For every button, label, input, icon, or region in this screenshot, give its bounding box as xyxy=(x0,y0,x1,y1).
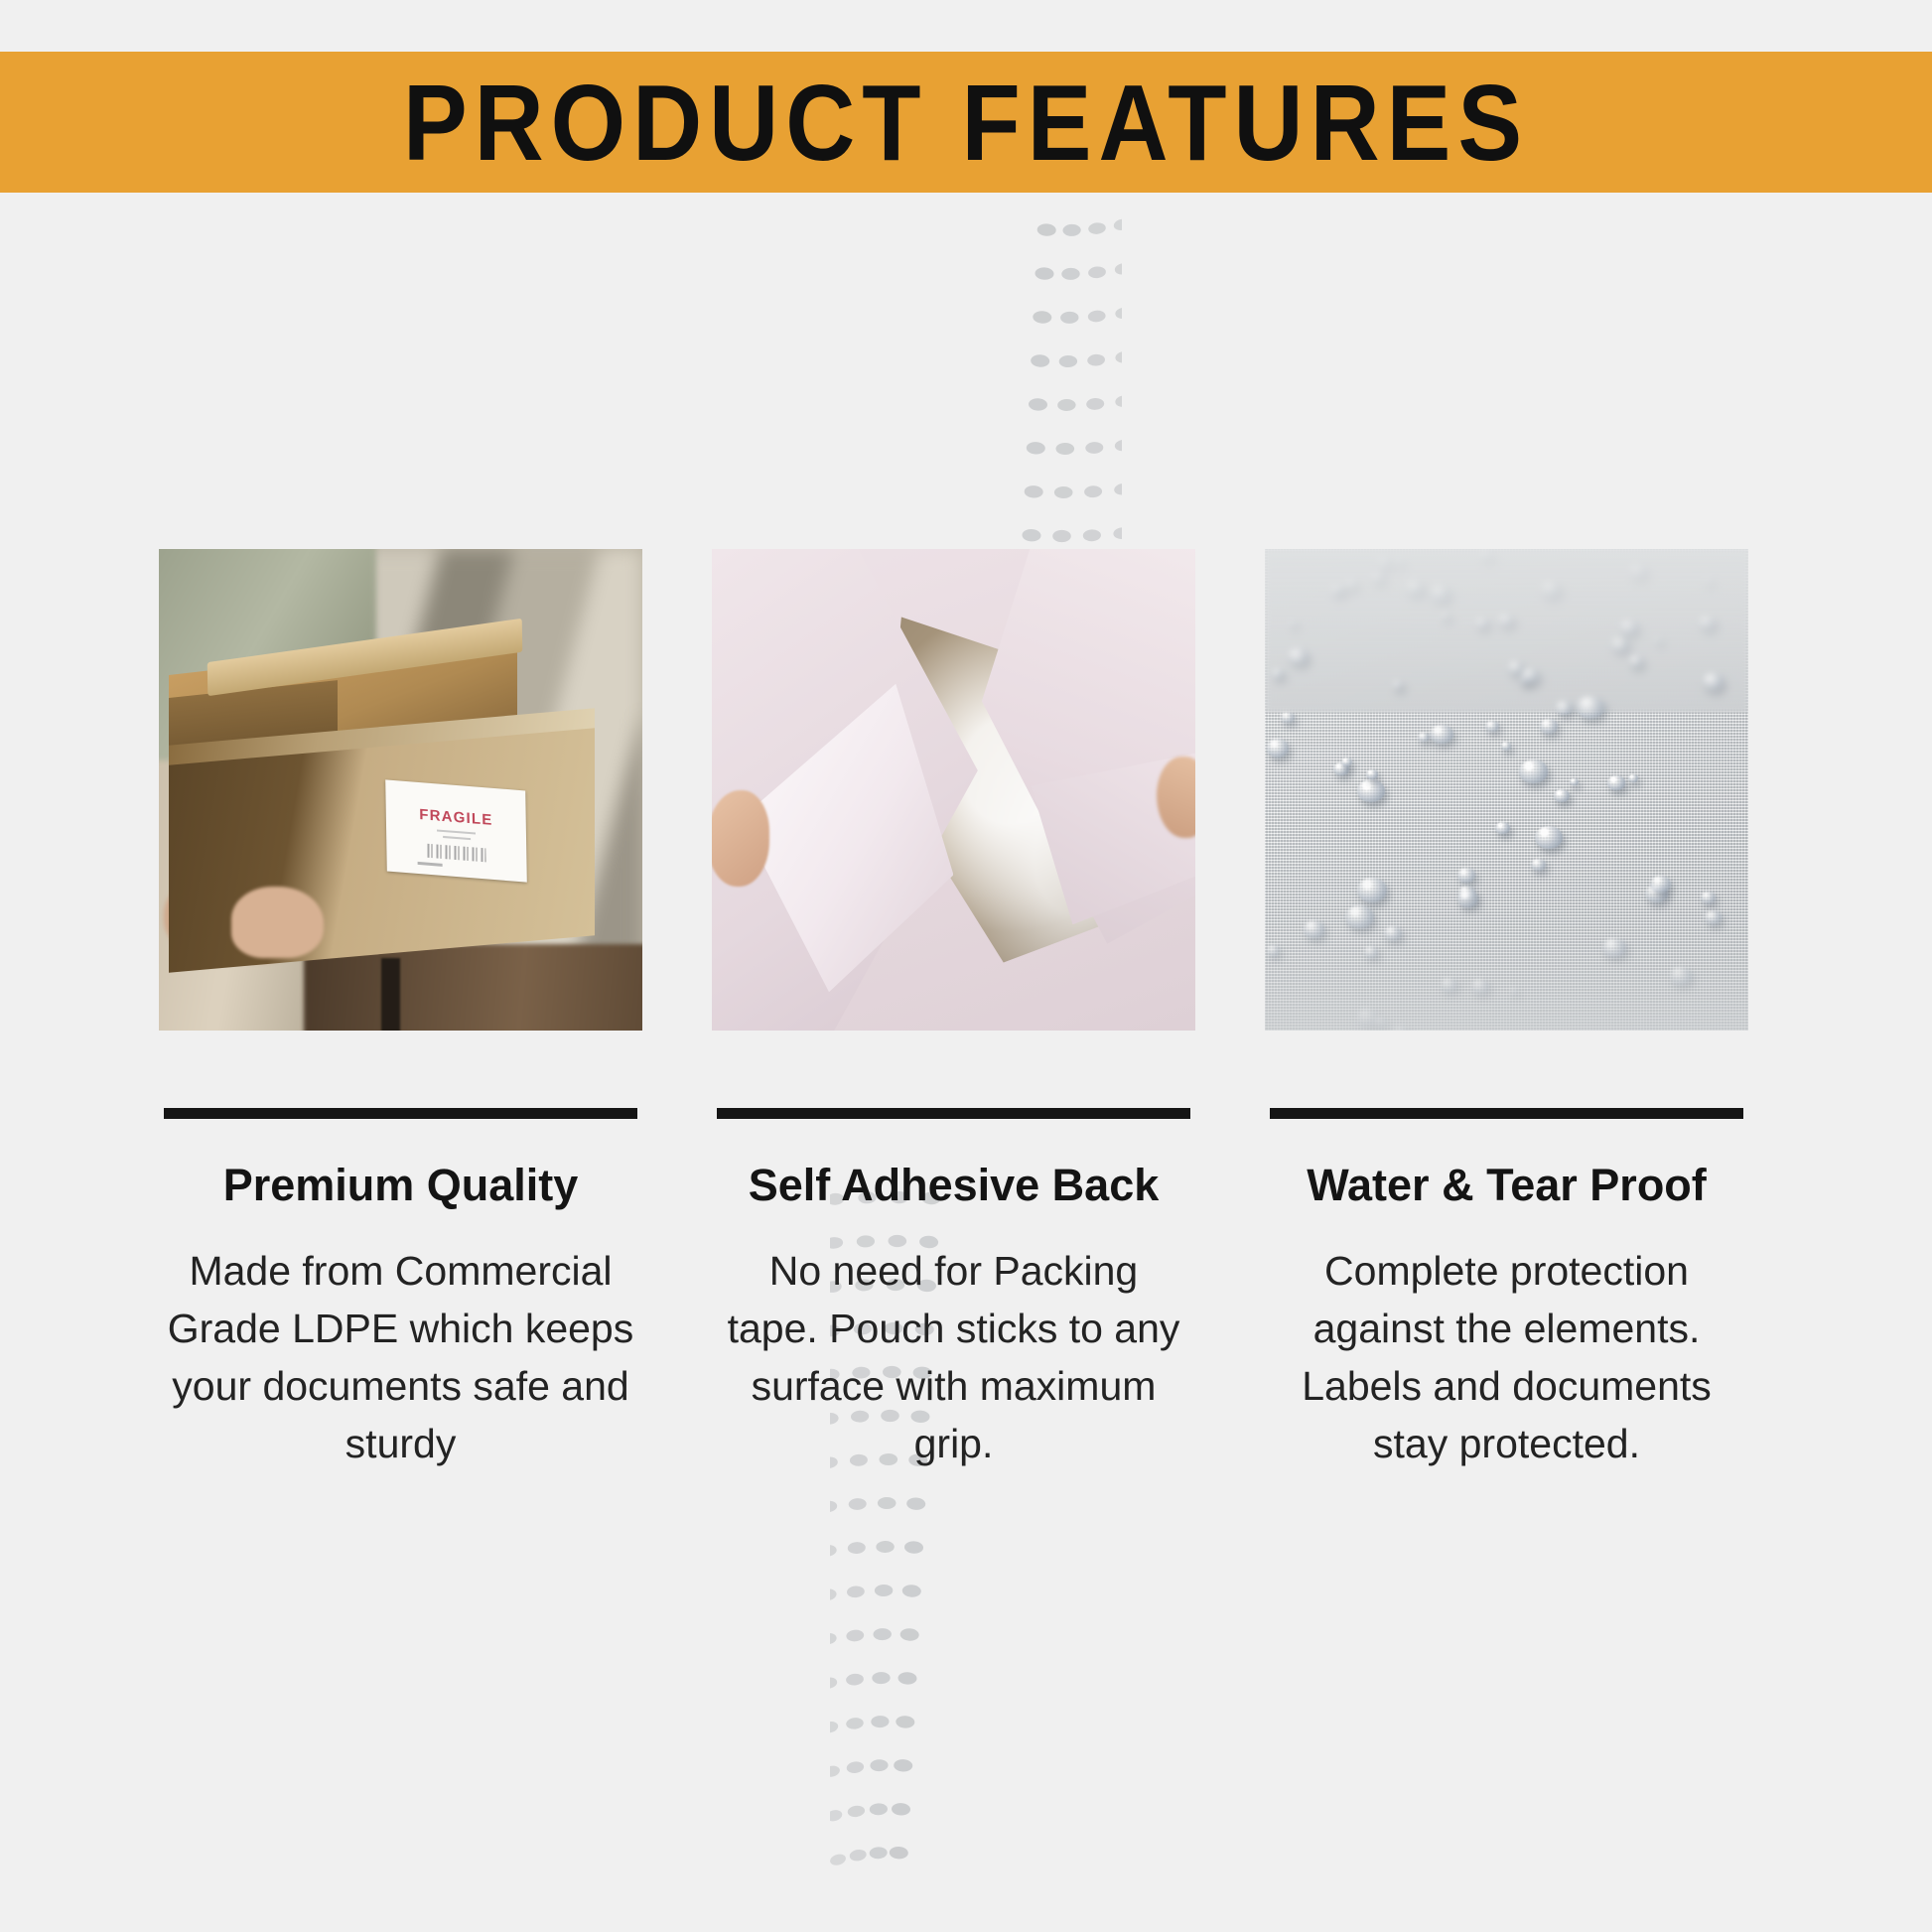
water-droplet xyxy=(1628,774,1638,782)
feature-title: Self Adhesive Back xyxy=(749,1161,1160,1210)
water-droplet xyxy=(1501,742,1511,750)
water-droplet xyxy=(1701,892,1716,903)
fragile-label-text: FRAGILE xyxy=(415,806,497,830)
water-droplet xyxy=(1267,739,1289,757)
barcode-icon xyxy=(427,844,486,862)
water-droplet xyxy=(1607,775,1625,789)
feature-title: Water & Tear Proof xyxy=(1307,1161,1707,1210)
page-title: PRODUCT FEATURES xyxy=(403,69,1529,177)
feature-description: Complete protection against the elements… xyxy=(1274,1242,1740,1473)
water-droplet xyxy=(1341,758,1352,766)
water-droplet xyxy=(1519,759,1548,783)
water-droplet xyxy=(1357,878,1387,901)
water-droplet xyxy=(1535,826,1563,849)
feature-description: Made from Commercial Grade LDPE which ke… xyxy=(168,1242,634,1473)
water-droplet xyxy=(1366,769,1378,779)
feature-image-premium-quality: FRAGILE xyxy=(159,549,642,1031)
water-droplet xyxy=(1540,719,1558,734)
water-droplet xyxy=(1531,859,1546,871)
feature-card-premium-quality: FRAGILE Premium Quality Made from Commer… xyxy=(159,549,642,1472)
water-droplet xyxy=(1485,721,1499,733)
feature-divider xyxy=(717,1108,1190,1119)
feature-description: No need for Packing tape. Pouch sticks t… xyxy=(721,1242,1187,1473)
feature-list: FRAGILE Premium Quality Made from Commer… xyxy=(159,549,1747,1472)
water-droplet xyxy=(1357,779,1385,802)
feature-image-water-tear-proof xyxy=(1265,549,1748,1031)
feature-card-self-adhesive-back: Self Adhesive Back No need for Packing t… xyxy=(712,549,1195,1472)
feature-image-self-adhesive-back xyxy=(712,549,1195,1031)
feature-card-water-tear-proof: Water & Tear Proof Complete protection a… xyxy=(1265,549,1748,1472)
water-droplet xyxy=(1418,733,1430,743)
feature-divider xyxy=(1270,1108,1743,1119)
water-droplet xyxy=(1554,789,1570,802)
feature-title: Premium Quality xyxy=(223,1161,579,1210)
header-banner: PRODUCT FEATURES xyxy=(0,52,1932,193)
fragile-label: FRAGILE xyxy=(385,779,527,882)
feature-divider xyxy=(164,1108,637,1119)
